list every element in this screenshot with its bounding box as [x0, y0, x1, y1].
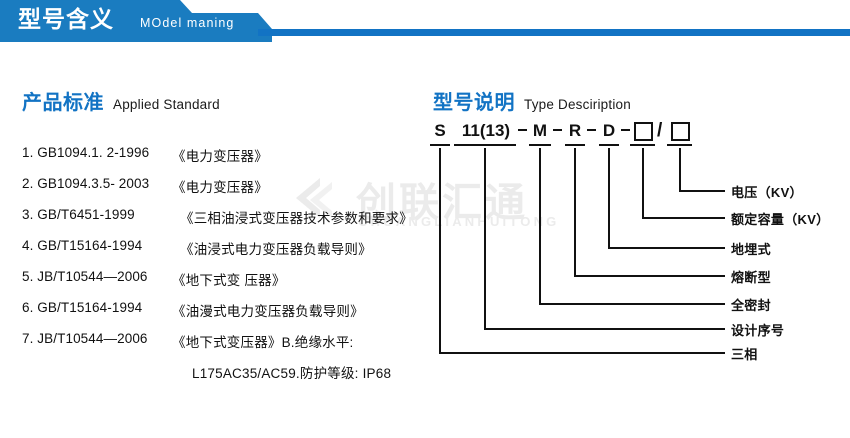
standard-row: 4. GB/T15164-1994 《油浸式电力变压器负载导则》 — [22, 238, 422, 269]
code-tick — [539, 148, 541, 156]
code-tick — [608, 148, 610, 156]
code-dash — [553, 129, 562, 131]
standard-name: 《电力变压器》 — [172, 176, 268, 196]
standard-name: 《地下式变 压器》 — [172, 269, 286, 289]
code-dash — [518, 129, 527, 131]
standard-row: 7. JB/T10544—2006 《地下式变压器》B.绝缘水平: — [22, 331, 422, 362]
header-banner-shape — [0, 0, 850, 42]
leader-label-rated-capacity: 额定容量（KV） — [731, 209, 829, 228]
leader-line-horizontal — [484, 328, 725, 330]
standard-code: 6. GB/T15164-1994 — [22, 300, 170, 315]
type-code-diagram: S 11(13) M R D / — [425, 120, 850, 380]
standard-code: 4. GB/T15164-1994 — [22, 238, 170, 253]
leader-line-horizontal — [574, 275, 725, 277]
right-section-title-cn: 型号说明 — [433, 92, 515, 114]
standard-name: 《油浸式电力变压器负载导则》 — [180, 238, 372, 258]
code-underline — [529, 144, 551, 146]
leader-label-voltage: 电压（KV） — [731, 182, 803, 201]
leader-label-buried-type: 地埋式 — [731, 239, 771, 258]
standard-name: 《电力变压器》 — [172, 145, 268, 165]
standard-row: 5. JB/T10544—2006 《地下式变 压器》 — [22, 269, 422, 300]
standard-code: 2. GB1094.3.5- 2003 — [22, 176, 170, 191]
standard-row: 1. GB1094.1. 2-1996 《电力变压器》 — [22, 145, 422, 176]
code-segment-d: D — [601, 120, 617, 141]
code-segment-capacity-box — [633, 120, 653, 141]
right-section-title-en: Type Desciription — [524, 97, 631, 112]
leader-line-horizontal — [608, 247, 725, 249]
leader-line-vertical — [539, 156, 541, 305]
standard-row: 3. GB/T6451-1999 《三相油浸式变压器技术参数和要求》 — [22, 207, 422, 238]
code-underline — [630, 144, 655, 146]
left-section-title: 产品标准Applied Standard — [22, 86, 220, 115]
leader-line-horizontal — [439, 352, 725, 354]
leader-line-horizontal — [539, 303, 725, 305]
code-segment-s: S — [432, 120, 448, 141]
leader-line-vertical — [439, 156, 441, 354]
code-tick — [439, 148, 441, 156]
leader-label-design-serial: 设计序号 — [731, 320, 784, 339]
code-segment-r: R — [567, 120, 583, 141]
page-header: 型号含义 MOdel maning — [0, 0, 850, 46]
standard-name: 《地下式变压器》B.绝缘水平: — [172, 331, 354, 351]
leader-label-three-phase: 三相 — [731, 344, 758, 363]
standard-code: 3. GB/T6451-1999 — [22, 207, 170, 222]
leader-line-vertical — [574, 156, 576, 277]
right-section-title: 型号说明Type Desciription — [433, 86, 631, 115]
standard-name-continuation: L175AC35/AC59.防护等级: IP68 — [192, 362, 391, 382]
code-separator: / — [657, 120, 662, 141]
header-title-en: MOdel maning — [140, 16, 235, 30]
leader-label-fully-sealed: 全密封 — [731, 295, 771, 314]
code-underline — [599, 144, 619, 146]
leader-line-horizontal — [679, 190, 725, 192]
code-underline — [667, 144, 692, 146]
leader-label-fuse-type: 熔断型 — [731, 267, 771, 286]
code-dash — [587, 129, 596, 131]
standard-row: 2. GB1094.3.5- 2003 《电力变压器》 — [22, 176, 422, 207]
code-tick — [642, 148, 644, 156]
code-dash — [621, 129, 630, 131]
code-underline — [454, 144, 516, 146]
code-tick — [484, 148, 486, 156]
code-placeholder-box — [671, 122, 690, 141]
leader-line-vertical — [484, 156, 486, 330]
left-section-title-en: Applied Standard — [113, 97, 220, 112]
leader-line-vertical — [642, 156, 644, 219]
standard-code: 5. JB/T10544—2006 — [22, 269, 170, 284]
leader-line-horizontal — [642, 217, 725, 219]
standard-name: 《三相油浸式变压器技术参数和要求》 — [180, 207, 413, 227]
standard-code: 7. JB/T10544—2006 — [22, 331, 170, 346]
leader-line-vertical — [679, 156, 681, 192]
standards-list: 1. GB1094.1. 2-1996 《电力变压器》 2. GB1094.3.… — [22, 145, 422, 393]
code-segment-voltage-box — [670, 120, 690, 141]
code-underline — [430, 144, 450, 146]
header-title-cn: 型号含义 — [18, 6, 114, 32]
code-tick — [679, 148, 681, 156]
leader-line-vertical — [608, 156, 610, 249]
standard-code: 1. GB1094.1. 2-1996 — [22, 145, 170, 160]
code-segment-m: M — [531, 120, 549, 141]
code-tick — [574, 148, 576, 156]
standard-row: 6. GB/T15164-1994 《油漫式电力变压器负载导则》 — [22, 300, 422, 331]
code-placeholder-box — [634, 122, 653, 141]
standard-name: 《油漫式电力变压器负载导则》 — [172, 300, 364, 320]
standard-row-continuation: L175AC35/AC59.防护等级: IP68 — [22, 362, 422, 393]
code-underline — [565, 144, 585, 146]
code-segment-voltage-class: 11(13) — [456, 120, 516, 141]
left-section-title-cn: 产品标准 — [22, 92, 104, 114]
